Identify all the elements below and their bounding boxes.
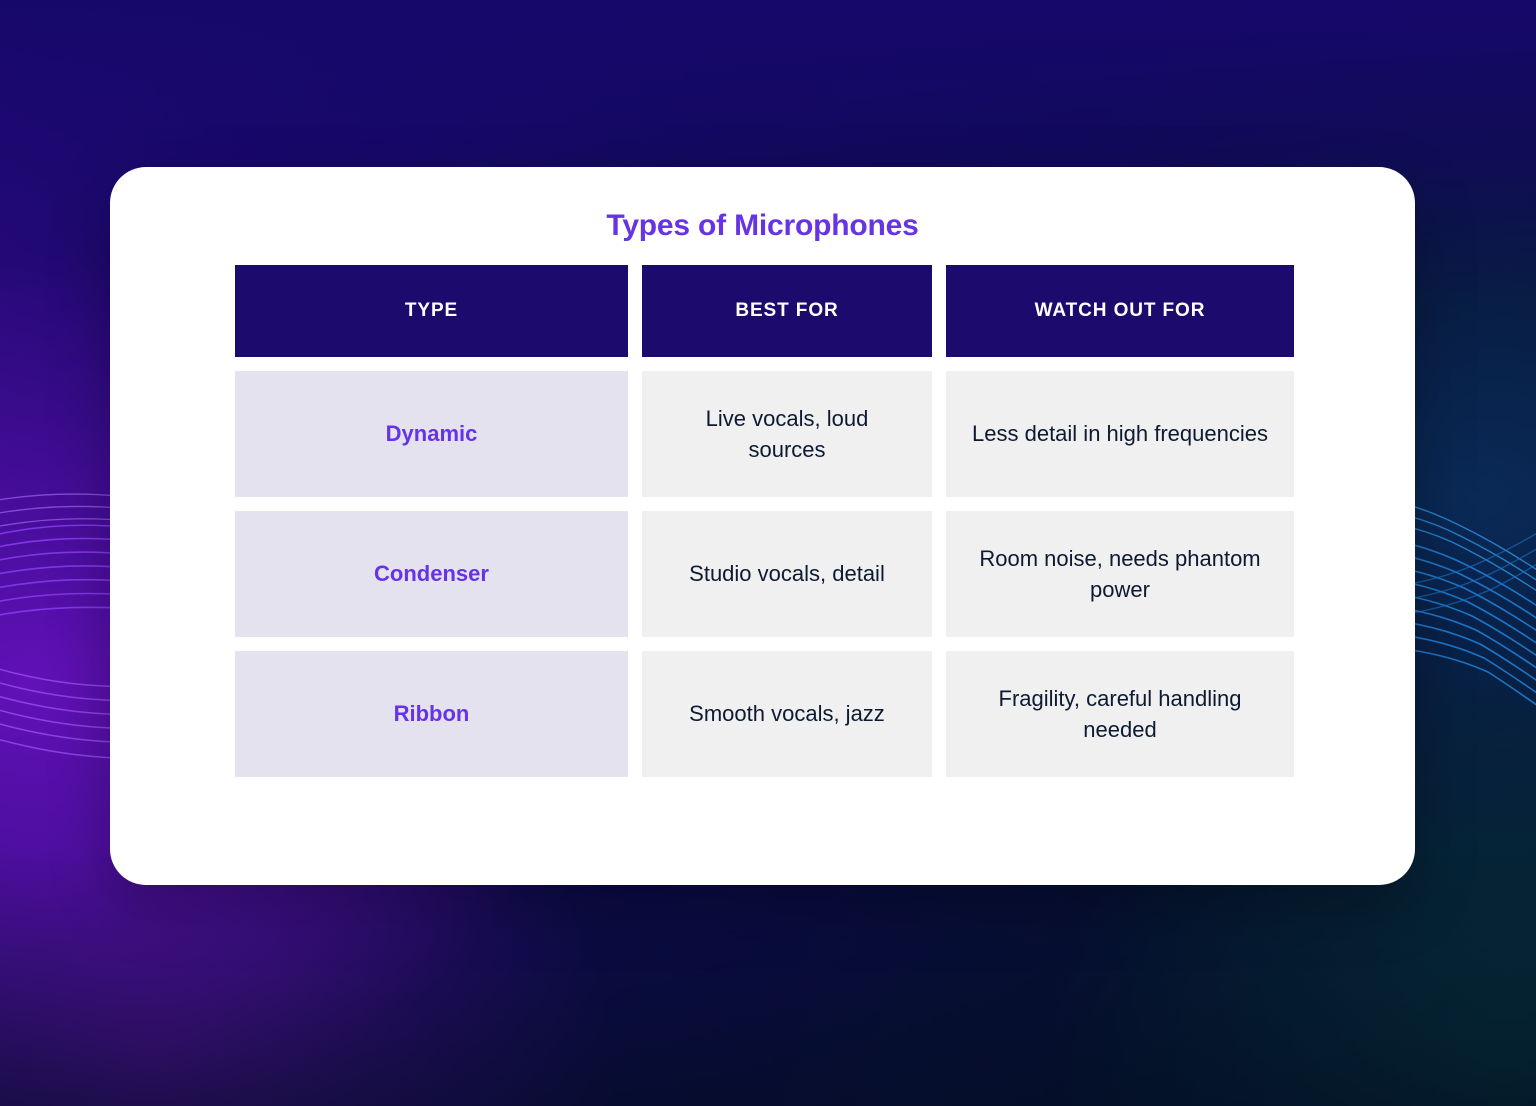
table-header-row: TYPE BEST FOR WATCH OUT FOR: [235, 265, 1290, 357]
cell-watch-out-for: Less detail in high frequencies: [946, 371, 1294, 497]
content-card: Types of Microphones TYPE BEST FOR WATCH…: [110, 167, 1415, 885]
cell-type: Condenser: [235, 511, 628, 637]
cell-watch-out-for: Room noise, needs phantom power: [946, 511, 1294, 637]
page-title: Types of Microphones: [110, 209, 1415, 243]
table-row: Condenser Studio vocals, detail Room noi…: [235, 511, 1290, 637]
column-header-watch-out-for: WATCH OUT FOR: [946, 265, 1294, 357]
microphone-types-table: TYPE BEST FOR WATCH OUT FOR Dynamic Live…: [235, 265, 1290, 777]
cell-type: Ribbon: [235, 651, 628, 777]
cell-best-for: Live vocals, loud sources: [642, 371, 932, 497]
column-header-best-for: BEST FOR: [642, 265, 932, 357]
table-row: Ribbon Smooth vocals, jazz Fragility, ca…: [235, 651, 1290, 777]
cell-best-for: Studio vocals, detail: [642, 511, 932, 637]
table-row: Dynamic Live vocals, loud sources Less d…: [235, 371, 1290, 497]
cell-type: Dynamic: [235, 371, 628, 497]
cell-watch-out-for: Fragility, careful handling needed: [946, 651, 1294, 777]
cell-best-for: Smooth vocals, jazz: [642, 651, 932, 777]
column-header-type: TYPE: [235, 265, 628, 357]
